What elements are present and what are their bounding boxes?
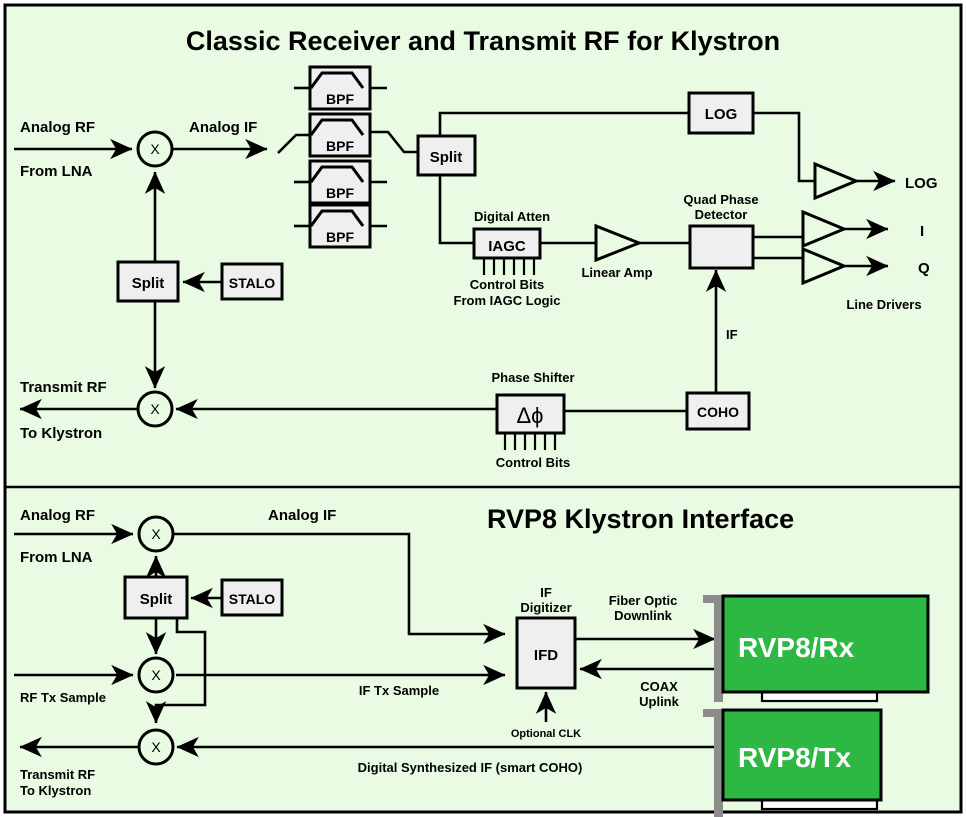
label-if-digitizer-1: IF <box>540 585 552 600</box>
label-phase-shifter: Phase Shifter <box>491 370 574 385</box>
mixer-sample-label: X <box>151 667 161 683</box>
mixer-tx-top-label: X <box>150 401 160 417</box>
split-stalo-label-top: Split <box>132 275 165 292</box>
rvp8-tx-label: RVP8/Tx <box>738 742 852 773</box>
label-analog-if-bottom: Analog IF <box>268 507 336 524</box>
label-to-klystron-bottom: To Klystron <box>20 783 91 798</box>
rvp8-rx-label: RVP8/Rx <box>738 632 855 663</box>
rvp8-tx-card[interactable]: RVP8/Tx <box>703 709 881 817</box>
ifd-label: IFD <box>534 647 558 664</box>
label-linear-amp: Linear Amp <box>581 265 652 280</box>
block-diagram-canvas: Classic Receiver and Transmit RF for Kly… <box>0 0 966 817</box>
label-optional-clk: Optional CLK <box>511 728 581 740</box>
label-analog-rf-bottom: Analog RF <box>20 507 95 524</box>
label-control-bits-iagc-2: From IAGC Logic <box>454 293 561 308</box>
split-label-bottom: Split <box>140 591 173 608</box>
label-quad-phase-1: Quad Phase <box>683 192 758 207</box>
label-control-bits-phase: Control Bits <box>496 455 570 470</box>
coho-label: COHO <box>697 404 739 420</box>
quad-phase-detector-box <box>690 226 753 268</box>
page-title: Classic Receiver and Transmit RF for Kly… <box>186 26 780 56</box>
stalo-label-bottom: STALO <box>229 591 276 607</box>
page-subtitle: RVP8 Klystron Interface <box>487 504 794 534</box>
split-rx-label: Split <box>430 149 463 166</box>
label-to-klystron-top: To Klystron <box>20 425 102 442</box>
label-line-drivers: Line Drivers <box>846 297 921 312</box>
label-transmit-rf-bottom: Transmit RF <box>20 767 95 782</box>
phase-shifter-symbol: Δϕ <box>516 403 543 428</box>
log-box-label: LOG <box>705 106 738 123</box>
label-if-top: IF <box>726 327 738 342</box>
stalo-label-top: STALO <box>229 275 276 291</box>
label-from-lna-top: From LNA <box>20 163 93 180</box>
filter-bpf-3-label: BPF <box>326 185 354 201</box>
filter-bpf-1-label: BPF <box>326 91 354 107</box>
label-fiber-optic-1: Fiber Optic <box>609 593 678 608</box>
mixer-tx-bottom-label: X <box>151 739 161 755</box>
label-coax-1: COAX <box>640 679 678 694</box>
label-digital-synth-if: Digital Synthesized IF (smart COHO) <box>358 760 583 775</box>
rvp8-rx-card[interactable]: RVP8/Rx <box>703 595 928 702</box>
label-digital-atten: Digital Atten <box>474 209 550 224</box>
label-if-tx-sample: IF Tx Sample <box>359 683 439 698</box>
label-rf-tx-sample: RF Tx Sample <box>20 690 106 705</box>
mixer-rx-top-label: X <box>150 141 160 157</box>
diagram-root: Classic Receiver and Transmit RF for Kly… <box>0 0 966 817</box>
label-from-lna-bottom: From LNA <box>20 549 93 566</box>
label-analog-if-top: Analog IF <box>189 119 257 136</box>
output-label-i: I <box>920 223 924 240</box>
label-quad-phase-2: Detector <box>695 207 748 222</box>
label-fiber-optic-2: Downlink <box>614 608 673 623</box>
label-control-bits-iagc-1: Control Bits <box>470 277 544 292</box>
label-if-digitizer-2: Digitizer <box>520 600 571 615</box>
label-coax-2: Uplink <box>639 694 679 709</box>
label-analog-rf-top: Analog RF <box>20 119 95 136</box>
output-label-q: Q <box>918 260 930 277</box>
label-transmit-rf-top: Transmit RF <box>20 379 107 396</box>
filter-bpf-2-label: BPF <box>326 138 354 154</box>
output-label-log: LOG <box>905 175 938 192</box>
mixer-rx-bottom-label: X <box>151 526 161 542</box>
filter-bpf-4-label: BPF <box>326 229 354 245</box>
iagc-box-label: IAGC <box>488 238 526 255</box>
